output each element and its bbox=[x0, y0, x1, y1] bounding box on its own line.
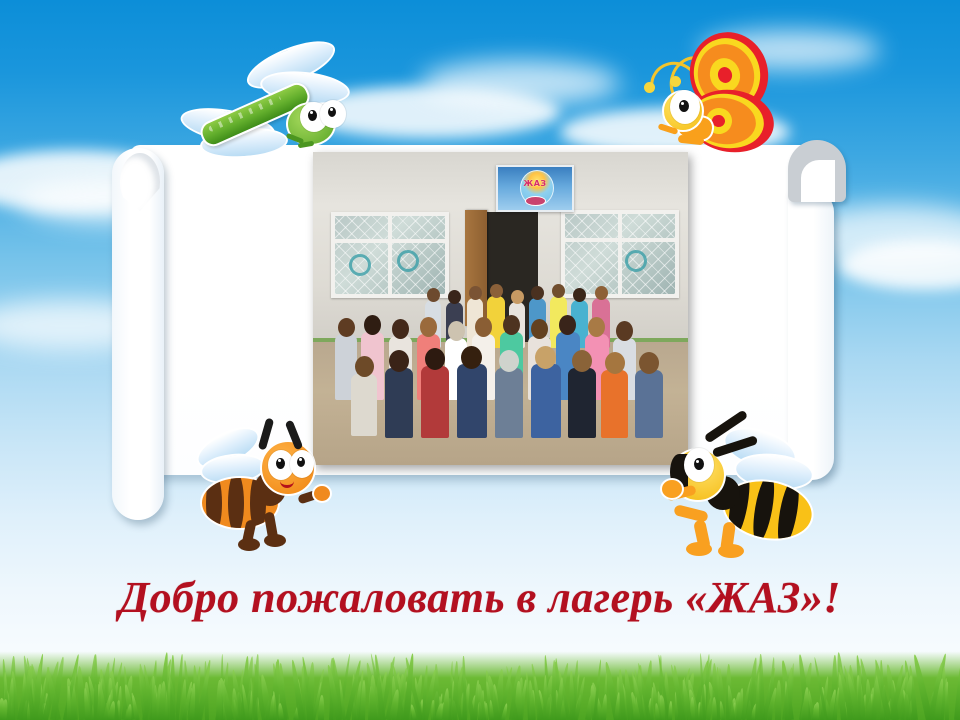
dragonfly-eye-glint bbox=[310, 111, 313, 114]
scroll-curl-right bbox=[788, 140, 846, 202]
grass-blade bbox=[601, 694, 608, 720]
photo-child-head bbox=[469, 286, 482, 300]
presentation-slide: ЖАЗ bbox=[0, 0, 960, 720]
wasp-hand bbox=[660, 478, 684, 500]
photo-child-head bbox=[595, 286, 608, 300]
grass-blade bbox=[864, 679, 871, 720]
butterfly-leg bbox=[678, 135, 705, 146]
dragonfly-icon bbox=[182, 44, 352, 164]
wasp-foot bbox=[718, 544, 744, 558]
photo-child-head bbox=[499, 350, 519, 372]
butterfly-antenna-tip bbox=[644, 82, 655, 93]
photo-child-head bbox=[531, 286, 544, 300]
grass-blades bbox=[0, 642, 960, 720]
bee-eye-glint bbox=[299, 458, 302, 461]
group-photo: ЖАЗ bbox=[313, 152, 688, 465]
bee-icon bbox=[198, 428, 328, 553]
cloud-decoration bbox=[420, 60, 620, 106]
photo-child bbox=[531, 364, 561, 438]
wasp-eye-glint bbox=[696, 460, 699, 463]
butterfly-icon bbox=[632, 28, 792, 168]
photo-child bbox=[351, 374, 377, 436]
photo-child-head bbox=[475, 317, 492, 337]
photo-child bbox=[457, 364, 487, 438]
wasp-foot bbox=[686, 542, 712, 556]
grass-blade bbox=[360, 680, 367, 720]
photo-child-head bbox=[572, 350, 592, 372]
grass-blade bbox=[369, 675, 376, 720]
photo-child bbox=[421, 366, 449, 438]
photo-child-head bbox=[448, 290, 461, 304]
butterfly-antenna-tip bbox=[670, 76, 681, 87]
photo-child-head bbox=[420, 317, 437, 337]
photo-child-head bbox=[503, 315, 520, 335]
photo-child-head bbox=[338, 318, 355, 337]
photo-child-head bbox=[389, 350, 409, 372]
photo-child-head bbox=[559, 315, 576, 335]
photo-child-head bbox=[573, 288, 586, 302]
photo-window-right bbox=[561, 210, 679, 298]
photo-child-head bbox=[552, 284, 565, 298]
camp-sign: ЖАЗ bbox=[496, 165, 574, 212]
photo-window-left bbox=[331, 212, 449, 298]
photo-child-head bbox=[616, 321, 633, 341]
photo-child-head bbox=[490, 284, 503, 298]
scroll-roll-left bbox=[112, 148, 164, 520]
bee-hand bbox=[312, 484, 332, 503]
photo-child bbox=[635, 370, 663, 438]
photo-child-head bbox=[639, 352, 659, 374]
dragonfly-eye-glint bbox=[330, 108, 333, 111]
photo-child-head bbox=[392, 319, 409, 339]
photo-child-head bbox=[531, 319, 548, 339]
grass-blade bbox=[954, 657, 960, 720]
welcome-caption: Добро пожаловать в лагерь «ЖАЗ»! bbox=[0, 572, 960, 623]
photo-child bbox=[385, 368, 413, 438]
photo-child bbox=[601, 370, 628, 438]
bee-foot bbox=[264, 534, 286, 547]
grass-blade bbox=[758, 654, 764, 720]
photo-child-head bbox=[425, 348, 445, 370]
camp-sign-text: ЖАЗ bbox=[498, 179, 572, 188]
photo-child-head bbox=[448, 321, 465, 341]
photo-child bbox=[568, 368, 596, 438]
photo-child-head bbox=[427, 288, 440, 302]
photo-child-head bbox=[511, 290, 524, 304]
bee-eye-glint bbox=[278, 459, 281, 462]
bee-foot bbox=[238, 538, 260, 551]
camp-sign-badge bbox=[525, 196, 546, 206]
photo-child-head bbox=[355, 356, 374, 377]
photo-child bbox=[495, 368, 523, 438]
butterfly-eye-glint bbox=[681, 102, 684, 105]
photo-child-head bbox=[588, 317, 605, 337]
photo-child-head bbox=[535, 346, 556, 369]
wasp-icon bbox=[662, 424, 817, 564]
photo-child-head bbox=[461, 346, 482, 369]
photo-child-head bbox=[364, 315, 381, 335]
photo-child-head bbox=[605, 352, 625, 374]
